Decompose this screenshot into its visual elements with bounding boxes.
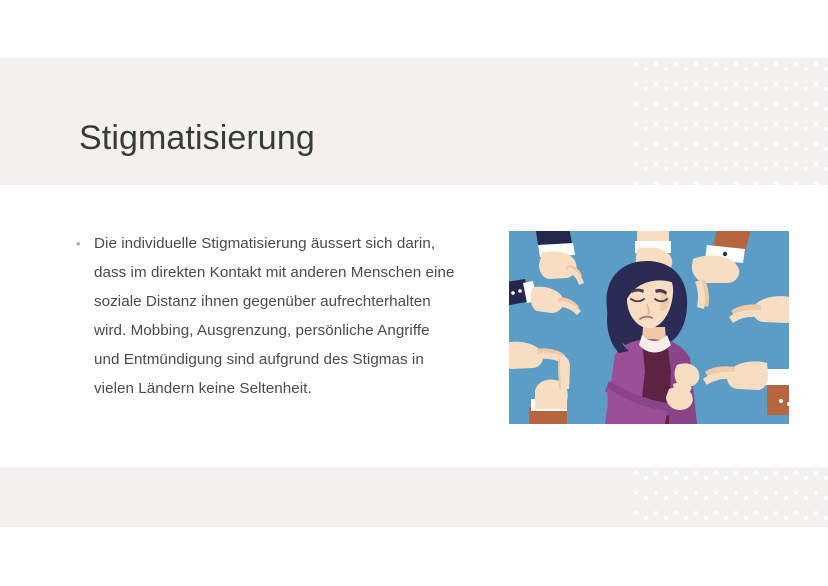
presentation-slide: Stigmatisierung • Die individuelle Stigm…: [0, 0, 828, 586]
bullet-list-item: • Die individuelle Stigmatisierung äusse…: [76, 229, 456, 403]
page-title: Stigmatisierung: [79, 118, 315, 159]
bullet-body-text: Die individuelle Stigmatisierung äussert…: [94, 229, 456, 403]
dot-grid-pattern-top-offset: [630, 58, 828, 185]
dot-grid-pattern-top: [630, 58, 828, 185]
slide-content-area: • Die individuelle Stigmatisierung äusse…: [0, 185, 828, 467]
illustration-image: [509, 231, 789, 424]
dot-grid-pattern-bottom-offset: [630, 467, 828, 527]
bullet-marker-icon: •: [76, 229, 94, 258]
dot-grid-pattern-bottom: [630, 467, 828, 527]
woman-surrounded-by-pointing-fingers-graphic: [509, 231, 789, 424]
footer-band: [0, 467, 828, 527]
